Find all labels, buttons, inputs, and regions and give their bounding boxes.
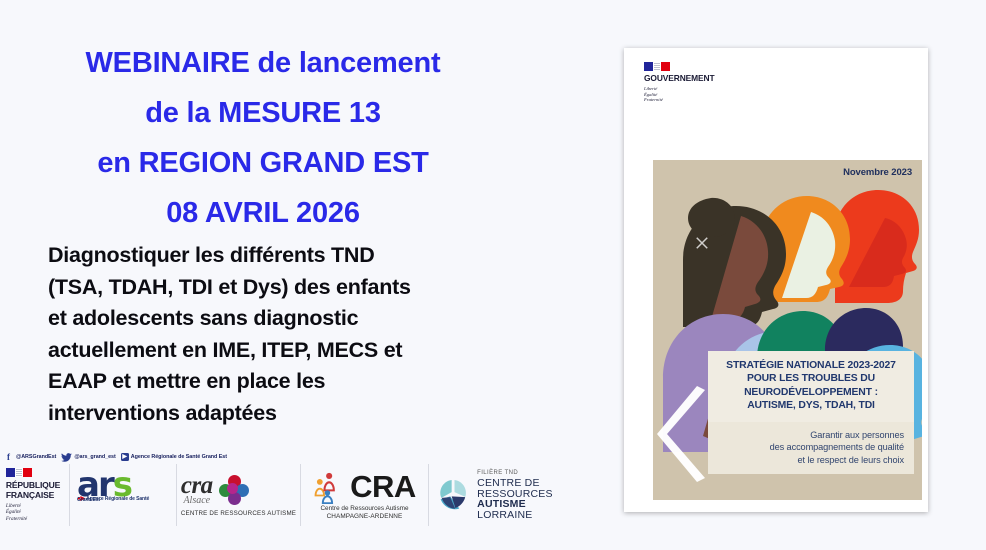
people-figures-icon	[313, 470, 347, 504]
description-line-6: interventions adaptées	[48, 398, 468, 430]
institution-logos: RÉPUBLIQUE FRANÇAISE Liberté Égalité Fra…	[0, 464, 589, 526]
heading-line-3: en REGION GRAND EST	[28, 138, 498, 188]
description-text: Diagnostiquer les différents TND (TSA, T…	[48, 240, 468, 429]
logo-filiere-tnd-lorraine: FILIÈRE TND CENTRE DE RESSOURCES AUTISME…	[429, 464, 589, 526]
pinwheel-icon	[436, 472, 470, 518]
cra-ca-caption-1: Centre de Ressources Autisme	[313, 505, 416, 513]
cover-subtitle-line-3: et le respect de leurs choix	[717, 454, 904, 466]
social-handles-row: f @ARSGrandEst @ars_grand_est ▶ Agence R…	[7, 451, 227, 463]
close-x-icon	[695, 236, 709, 250]
heading-line-1: WEBINAIRE de lancement	[28, 38, 498, 88]
cover-title-line-4: AUTISME, DYS, TDAH, TDI	[717, 399, 905, 413]
logo-cra-alsace: cra Alsace CENTRE DE RESSOURCES AUTISME	[177, 464, 301, 526]
facebook-handle[interactable]: f @ARSGrandEst	[7, 453, 56, 462]
tnd-line-3: AUTISME	[477, 499, 582, 510]
description-line-1: Diagnostiquer les différents TND	[48, 240, 468, 272]
twitter-handle[interactable]: @ars_grand_est	[61, 453, 115, 462]
logo-cra-champagne-ardenne: CRA Centre de Ressources Autisme CHAMPAG…	[301, 464, 429, 526]
french-flag-icon	[6, 468, 32, 477]
description-line-2: (TSA, TDAH, TDI et Dys) des enfants	[48, 272, 468, 304]
tnd-line-2: CENTRE DE RESSOURCES	[477, 478, 582, 499]
description-line-4: actuellement en IME, ITEP, MECS et	[48, 335, 468, 367]
rf-name-line-1: RÉPUBLIQUE	[6, 480, 60, 490]
facebook-handle-label: @ARSGrandEst	[16, 454, 56, 460]
youtube-icon: ▶	[121, 453, 129, 461]
cra-alsace-region: Alsace	[181, 496, 213, 506]
cover-subtitle-card: Garantir aux personnes des accompagnemen…	[708, 422, 914, 474]
cra-ca-caption-2: CHAMPAGNE-ARDENNE	[313, 513, 416, 521]
document-cover: GOUVERNEMENT Liberté Égalité Fraternité …	[624, 48, 928, 512]
cra-alsace-wordmark: cra	[181, 474, 213, 498]
chevron-left-icon	[657, 386, 711, 482]
cover-title-line-1: STRATÉGIE NATIONALE 2023-2027	[717, 359, 905, 373]
partner-logo-bar: f @ARSGrandEst @ars_grand_est ▶ Agence R…	[0, 448, 624, 528]
cra-ca-wordmark: CRA	[350, 472, 416, 501]
facebook-icon: f	[7, 453, 14, 462]
cover-title-card: STRATÉGIE NATIONALE 2023-2027 POUR LES T…	[708, 351, 914, 422]
tnd-line-1: FILIÈRE TND	[477, 470, 582, 476]
cover-title-line-2: POUR LES TROUBLES DU	[717, 372, 905, 386]
youtube-handle[interactable]: ▶ Agence Régionale de Santé Grand Est	[121, 453, 227, 461]
twitter-handle-label: @ars_grand_est	[74, 454, 115, 460]
cover-subtitle-line-1: Garantir aux personnes	[717, 429, 904, 441]
flower-icon	[219, 475, 249, 505]
cover-date: Novembre 2023	[843, 167, 912, 178]
youtube-handle-label: Agence Régionale de Santé Grand Est	[131, 454, 227, 460]
rf-motto: Liberté Égalité Fraternité	[6, 503, 60, 522]
twitter-icon	[61, 453, 72, 462]
cover-subtitle-line-2: des accompagnements de qualité	[717, 441, 904, 453]
cover-illustration: Novembre 2023	[653, 160, 922, 500]
gouvernement-logo: GOUVERNEMENT Liberté Égalité Fraternité	[644, 62, 714, 103]
heading-line-2: de la MESURE 13	[28, 88, 498, 138]
rf-name-line-2: FRANÇAISE	[6, 490, 60, 500]
tnd-line-4: LORRAINE	[477, 510, 582, 521]
french-flag-icon	[644, 62, 670, 71]
description-line-3: et adolescents sans diagnostic	[48, 303, 468, 335]
gouvernement-motto: Liberté Égalité Fraternité	[644, 86, 714, 103]
heading-line-4: 08 AVRIL 2026	[28, 188, 498, 238]
gouvernement-label: GOUVERNEMENT	[644, 74, 714, 83]
logo-ars-grand-est: ars ●▶ Agence Régionale de Santé Grand E…	[70, 464, 177, 526]
webinar-announcement-slide: WEBINAIRE de lancement de la MESURE 13 e…	[0, 0, 986, 550]
description-line-5: EAAP et mettre en place les	[48, 366, 468, 398]
cra-alsace-caption: CENTRE DE RESSOURCES AUTISME	[181, 510, 296, 517]
logo-republique-francaise: RÉPUBLIQUE FRANÇAISE Liberté Égalité Fra…	[0, 464, 70, 526]
cover-title-line-3: NEURODÉVELOPPEMENT :	[717, 386, 905, 400]
page-title: WEBINAIRE de lancement de la MESURE 13 e…	[28, 38, 498, 238]
